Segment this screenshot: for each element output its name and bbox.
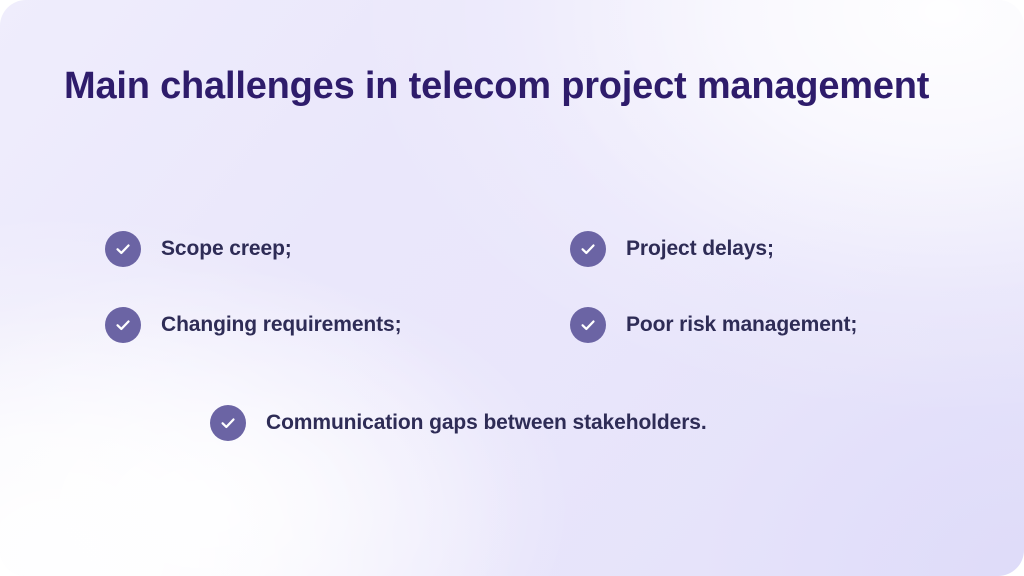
list-item: Poor risk management; bbox=[570, 307, 857, 343]
check-circle-icon bbox=[105, 307, 141, 343]
list-item: Project delays; bbox=[570, 231, 774, 267]
check-circle-icon bbox=[105, 231, 141, 267]
list-item: Scope creep; bbox=[105, 231, 292, 267]
slide-content: Main challenges in telecom project manag… bbox=[0, 0, 1024, 576]
list-item: Changing requirements; bbox=[105, 307, 402, 343]
slide-canvas: Main challenges in telecom project manag… bbox=[0, 0, 1024, 576]
list-item-label: Poor risk management; bbox=[626, 311, 857, 339]
list-item-label: Project delays; bbox=[626, 235, 774, 263]
challenges-checklist: Scope creep; Project delays; bbox=[0, 222, 1024, 392]
check-circle-icon bbox=[210, 405, 246, 441]
check-circle-icon bbox=[570, 307, 606, 343]
check-circle-icon bbox=[570, 231, 606, 267]
list-item-label: Communication gaps between stakeholders. bbox=[266, 409, 707, 437]
page-title: Main challenges in telecom project manag… bbox=[64, 62, 929, 110]
list-item-label: Scope creep; bbox=[161, 235, 292, 263]
list-item: Communication gaps between stakeholders. bbox=[210, 405, 707, 441]
checklist-grid: Scope creep; Project delays; bbox=[0, 222, 1024, 392]
list-item-label: Changing requirements; bbox=[161, 311, 402, 339]
